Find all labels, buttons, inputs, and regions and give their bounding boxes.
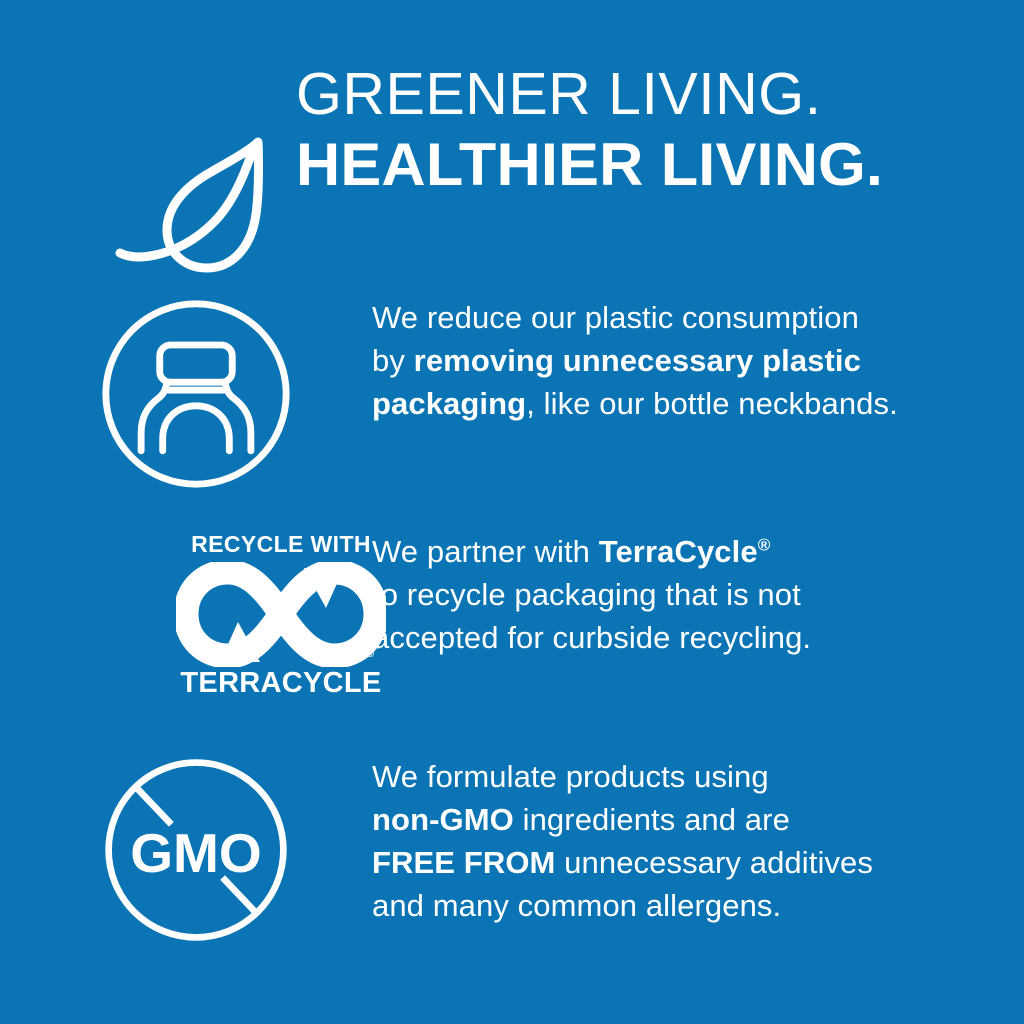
headline-line-1: GREENER LIVING.: [296, 62, 996, 126]
terracycle-top-label: RECYCLE WITH: [176, 532, 386, 556]
svg-text:GMO: GMO: [130, 822, 262, 884]
headline-line-2: HEALTHIER LIVING.: [296, 132, 1010, 198]
benefit-text-non-gmo: We formulate products using non-GMO ingr…: [372, 755, 1012, 927]
promo-graphic: GREENER LIVING. HEALTHIER LIVING. We red…: [0, 0, 1024, 1024]
bottle-neckband-icon: [96, 296, 296, 492]
header: GREENER LIVING. HEALTHIER LIVING.: [0, 62, 1024, 227]
benefit-row-terracycle: RECYCLE WITH ® TERRACYCLE We pa: [0, 530, 1024, 720]
benefit-text-plastic-reduction: We reduce our plastic consumption by rem…: [372, 296, 1012, 425]
benefit-text-terracycle: We partner with TerraCycle® to recycle p…: [372, 530, 1012, 659]
headline-block: GREENER LIVING. HEALTHIER LIVING.: [296, 62, 996, 198]
benefit-row-non-gmo: GMO We formulate products using non-GMO …: [0, 755, 1024, 955]
benefit-paragraph: We reduce our plastic consumption by rem…: [372, 296, 1012, 425]
recycle-infinity-icon: [176, 562, 386, 667]
benefit-row-plastic-reduction: We reduce our plastic consumption by rem…: [0, 296, 1024, 496]
leaf-icon: [110, 134, 290, 284]
terracycle-bottom-label: TERRACYCLE: [176, 668, 386, 698]
benefit-paragraph: We formulate products using non-GMO ingr…: [372, 755, 1012, 927]
no-gmo-icon: GMO: [96, 755, 296, 945]
benefit-paragraph: We partner with TerraCycle® to recycle p…: [372, 530, 1012, 659]
